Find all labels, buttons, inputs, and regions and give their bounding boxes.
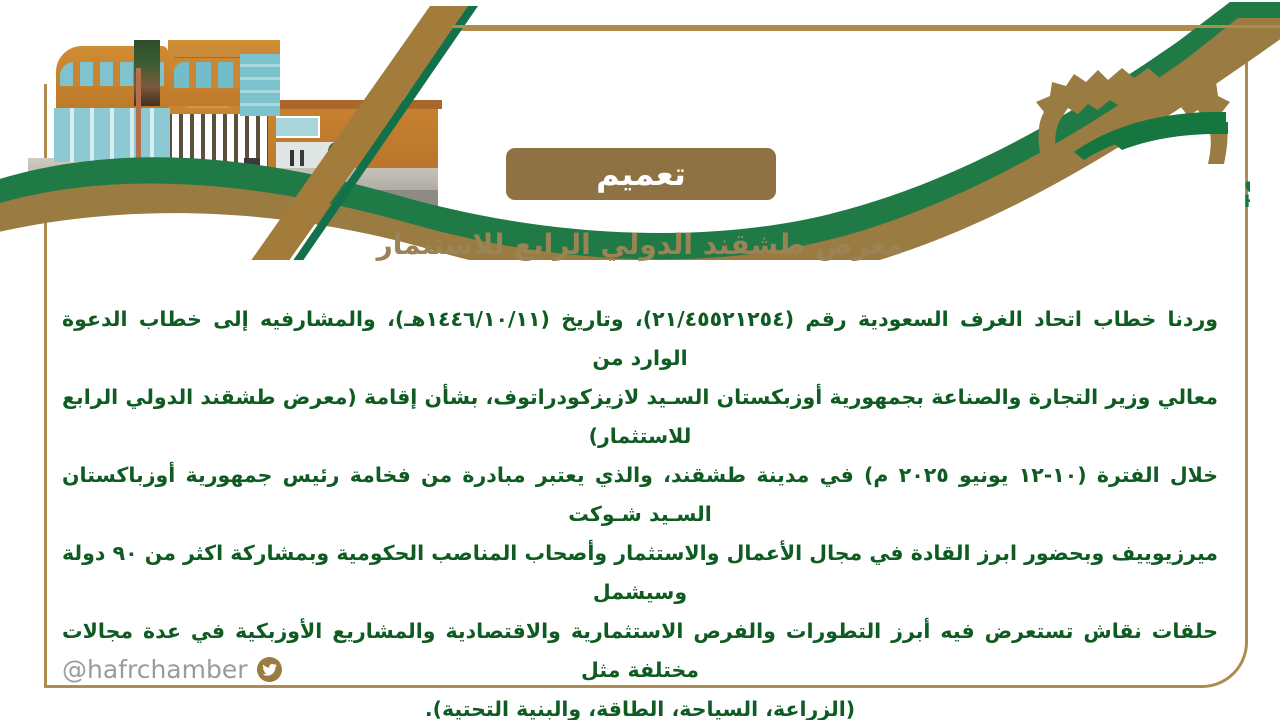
crown-arc-icon [1036, 68, 1230, 180]
logo-wordmark: غرفـة حفـر البـاطن HAFR ALBATIN CHAMBER [1244, 159, 1250, 211]
chamber-logo: غرفـة حفـر البـاطن HAFR ALBATIN CHAMBER [1012, 52, 1250, 212]
circular-banner-label: تعميم [596, 158, 686, 190]
body-line-6: (الزراعة، السياحة، الطاقة، والبنية التحت… [62, 690, 1218, 720]
body-line-3: خلال الفترة (١٠-١٢ يونيو ٢٠٢٥ م) في مدين… [62, 456, 1218, 534]
body-line-1: وردنا خطاب اتحاد الغرف السعودية رقم (٢١/… [62, 300, 1218, 378]
body-line-2: معالي وزير التجارة والصناعة بجمهورية أوز… [62, 378, 1218, 456]
chamber-building-photo [0, 0, 470, 215]
twitter-icon[interactable] [257, 657, 282, 682]
svg-text:HAFR ALBATIN CHAMBER: HAFR ALBATIN CHAMBER [1244, 192, 1250, 211]
social-handle-label: @hafrchamber [62, 655, 248, 684]
body-line-4: ميرزيوييف وبحضور ابرز القادة في مجال الأ… [62, 534, 1218, 612]
circular-banner: تعميم [506, 148, 776, 200]
social-handle-group[interactable]: @hafrchamber [62, 655, 282, 684]
svg-text:غرفـة حفـر البـاطن: غرفـة حفـر البـاطن [1244, 159, 1250, 193]
announcement-poster: غرفـة حفـر البـاطن HAFR ALBATIN CHAMBER … [0, 0, 1280, 720]
page-title: معرض طشقند الدولي الرابع للاستثمار [0, 228, 1280, 261]
